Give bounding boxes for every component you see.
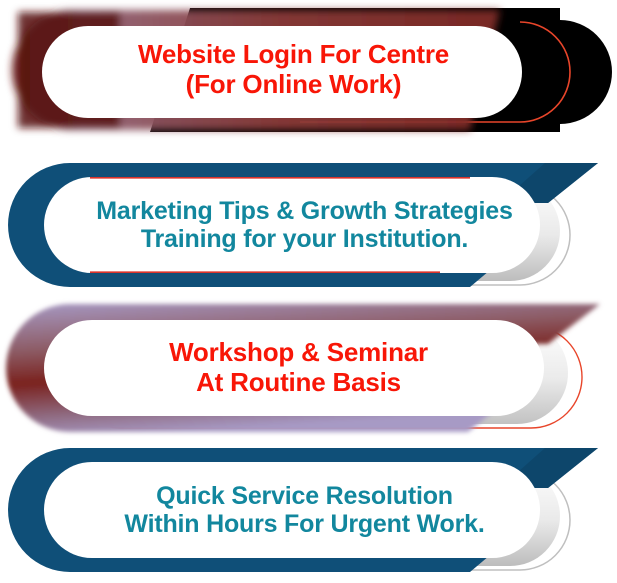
- website-login-caption: Website Login For Centre (For Online Wor…: [80, 0, 507, 140]
- workshop-seminar-caption: Workshop & Seminar At Routine Basis: [80, 298, 517, 438]
- caption-line-2: Training for your Institution.: [141, 225, 468, 254]
- caption-line-2: At Routine Basis: [196, 368, 401, 398]
- caption-line-1: Workshop & Seminar: [169, 338, 428, 368]
- caption-line-1: Website Login For Centre: [138, 40, 449, 70]
- banner-stage: Website Login For Centre (For Online Wor…: [0, 0, 617, 583]
- workshop-seminar-banner[interactable]: Workshop & Seminar At Routine Basis: [0, 298, 617, 438]
- marketing-training-caption: Marketing Tips & Growth Strategies Train…: [70, 155, 539, 295]
- quick-service-banner[interactable]: Quick Service Resolution Within Hours Fo…: [0, 440, 617, 580]
- marketing-training-banner[interactable]: Marketing Tips & Growth Strategies Train…: [0, 155, 617, 295]
- caption-line-1: Quick Service Resolution: [156, 482, 453, 511]
- caption-line-2: Within Hours For Urgent Work.: [124, 510, 484, 539]
- caption-line-1: Marketing Tips & Growth Strategies: [96, 197, 512, 226]
- quick-service-caption: Quick Service Resolution Within Hours Fo…: [70, 440, 539, 580]
- website-login-banner[interactable]: Website Login For Centre (For Online Wor…: [0, 0, 617, 140]
- caption-line-2: (For Online Work): [186, 70, 402, 100]
